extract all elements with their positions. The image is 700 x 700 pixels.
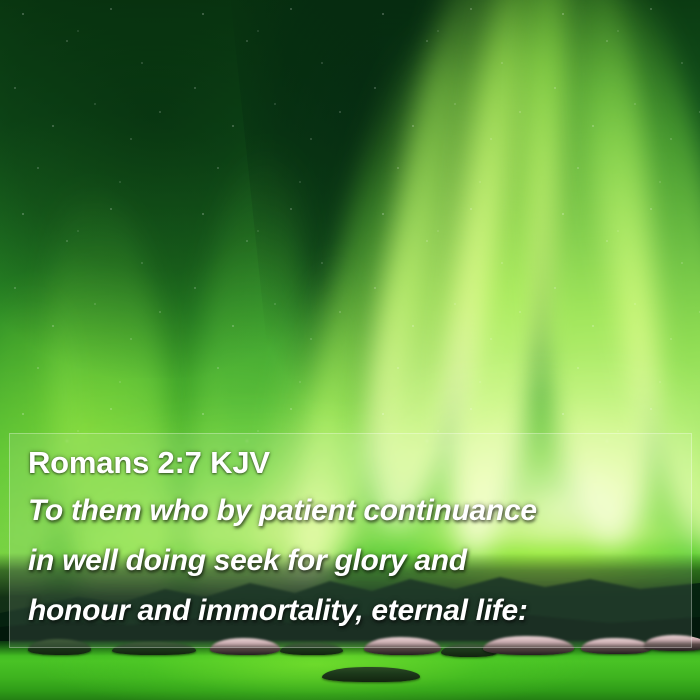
verse-line: To them who by patient continuance — [28, 486, 691, 536]
verse-reference: Romans 2:7 KJV — [28, 443, 691, 483]
lake-water — [0, 641, 700, 700]
verse-image-canvas: Romans 2:7 KJV To them who by patient co… — [0, 0, 700, 700]
rock — [322, 667, 420, 682]
verse-line: in well doing seek for glory and — [28, 536, 691, 586]
verse-overlay-panel: Romans 2:7 KJV To them who by patient co… — [9, 433, 692, 648]
verse-content: Romans 2:7 KJV To them who by patient co… — [10, 434, 691, 647]
verse-line: honour and immortality, eternal life: — [28, 586, 691, 636]
verse-text-block: To them who by patient continuance in we… — [28, 486, 691, 636]
